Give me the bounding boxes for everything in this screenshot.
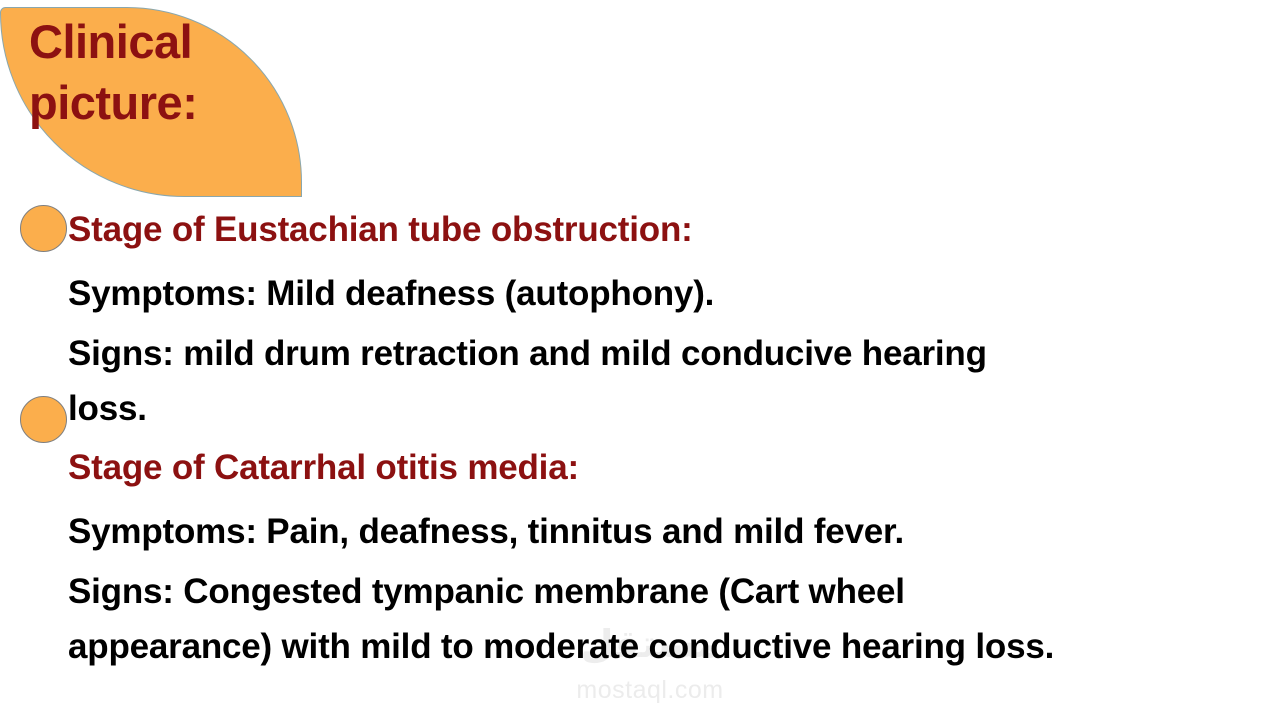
page-title: Clinical picture: — [29, 11, 294, 133]
content-body: Stage of Eustachian tube obstruction: Sy… — [68, 198, 1280, 674]
section-1-signs-line-1: Signs: mild drum retraction and mild con… — [68, 326, 1280, 381]
section-2-signs-line-2: appearance) with mild to moderate conduc… — [68, 619, 1280, 674]
section-heading-catarrhal: Stage of Catarrhal otitis media: — [68, 436, 1280, 500]
section-heading-eustachian: Stage of Eustachian tube obstruction: — [68, 198, 1280, 262]
section-1-symptoms: Symptoms: Mild deafness (autophony). — [68, 262, 1280, 326]
watermark-domain-text: mostaql.com — [540, 676, 760, 705]
section-2-signs-line-1: Signs: Congested tympanic membrane (Cart… — [68, 564, 1280, 619]
section-2-symptoms: Symptoms: Pain, deafness, tinnitus and m… — [68, 500, 1280, 564]
bullet-dot-icon-2 — [20, 396, 67, 443]
section-1-signs-line-2: loss. — [68, 381, 1280, 436]
bullet-dot-icon-1 — [20, 205, 67, 252]
slide-canvas: مستقل mostaql.com Clinical picture: Stag… — [0, 0, 1280, 720]
